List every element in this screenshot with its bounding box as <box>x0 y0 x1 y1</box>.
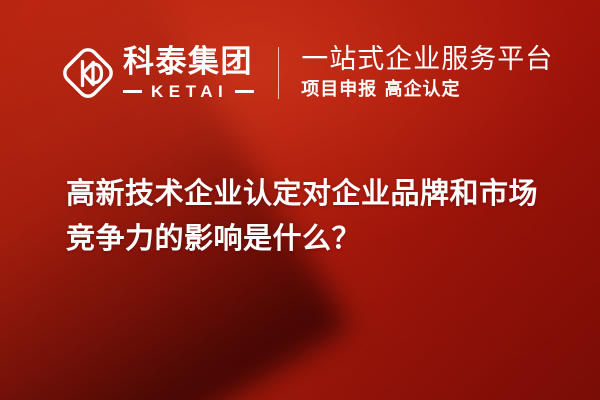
logo-wordmark: 科泰集团 KETAI <box>123 47 254 100</box>
logo-company-name-en: KETAI <box>142 83 235 100</box>
banner-header: 科泰集团 KETAI 一站式企业服务平台 项目申报 高企认定 <box>60 40 553 106</box>
promo-banner: 科泰集团 KETAI 一站式企业服务平台 项目申报 高企认定 高新技术企业认定对… <box>0 0 600 400</box>
tagline-secondary: 项目申报 高企认定 <box>301 79 553 101</box>
brand-logo[interactable]: 科泰集团 KETAI <box>60 40 254 106</box>
page-title: 高新技术企业认定对企业品牌和市场竞争力的影响是什么？ <box>66 171 566 261</box>
logo-latin-row: KETAI <box>123 83 254 100</box>
header-vertical-divider <box>278 47 279 99</box>
ketai-diamond-monogram-icon <box>60 45 116 101</box>
logo-dash-right-icon <box>235 90 254 93</box>
logo-dash-left-icon <box>123 90 142 93</box>
brand-tagline: 一站式企业服务平台 项目申报 高企认定 <box>301 45 553 101</box>
tagline-primary: 一站式企业服务平台 <box>301 45 553 75</box>
logo-company-name-cn: 科泰集团 <box>123 47 254 78</box>
